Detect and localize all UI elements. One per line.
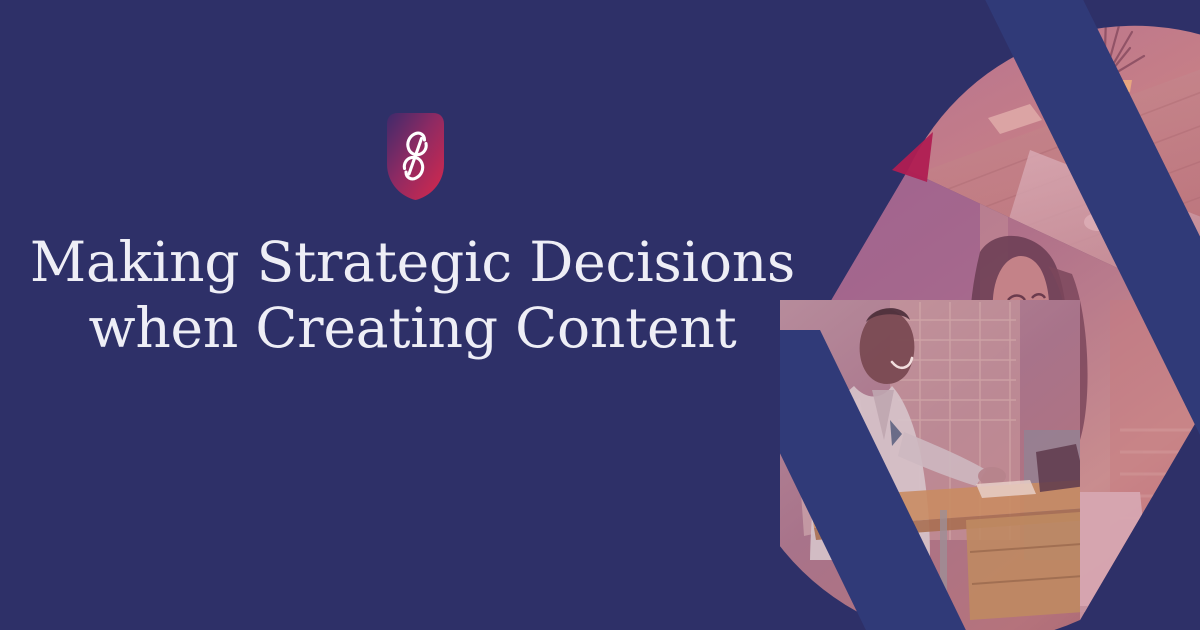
content-column: Making Strategic Decisions when Creating… xyxy=(0,0,830,630)
page-title-line-1: Making Strategic Decisions xyxy=(0,228,825,296)
shield-monogram-logo[interactable] xyxy=(377,112,454,201)
accent-triangle xyxy=(892,132,933,182)
page-title-line-2: when Creating Content xyxy=(0,294,825,362)
share-card: Making Strategic Decisions when Creating… xyxy=(0,0,1200,630)
page-title: Making Strategic Decisions when Creating… xyxy=(0,228,825,362)
shield-monogram-logo-svg xyxy=(377,112,454,201)
s-monogram-artwork-svg xyxy=(780,0,1200,630)
s-monogram-photo-mask xyxy=(780,0,1200,630)
